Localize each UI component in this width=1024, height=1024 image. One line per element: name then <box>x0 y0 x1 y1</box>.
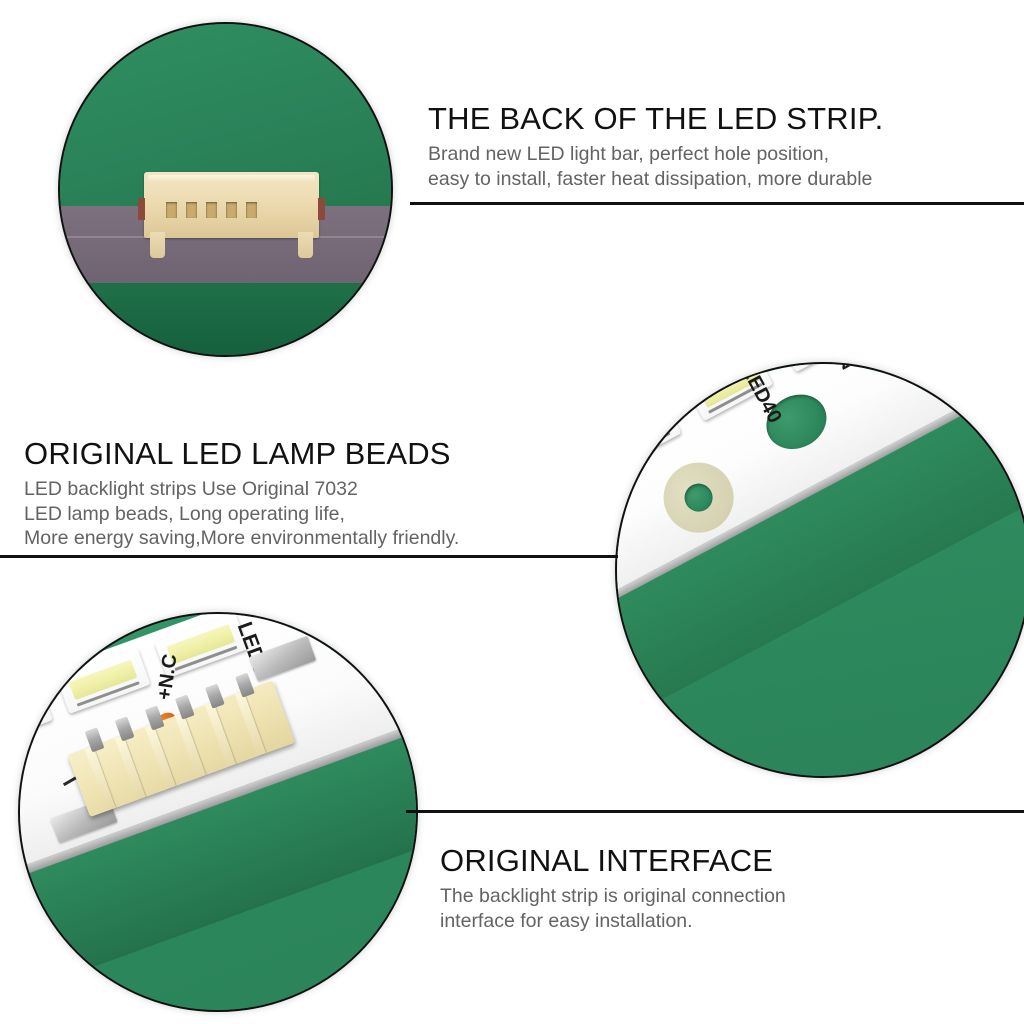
connector-pin-slots <box>166 202 257 218</box>
infographic-canvas: THE BACK OF THE LED STRIP. Brand new LED… <box>0 0 1024 1024</box>
section-2-heading: ORIGINAL LED LAMP BEADS <box>24 438 459 471</box>
led-lamp-beads-photo: LED40 2 7032NNB 44 2D REV1.0 120317 <box>615 362 1024 778</box>
section-1-body-line-2: easy to install, faster heat dissipation… <box>428 167 883 192</box>
connector-leg-left <box>150 232 165 258</box>
section-3-body: The backlight strip is original connecti… <box>440 884 786 934</box>
led-strip-back-connector-photo <box>58 22 393 357</box>
section-3-heading: ORIGINAL INTERFACE <box>440 845 786 878</box>
connector-solder-pad-left <box>138 198 145 220</box>
divider-line-2 <box>0 555 618 558</box>
divider-line-3 <box>406 810 1024 813</box>
original-interface-connector-photo: LED5 +N.C + <box>18 612 418 1012</box>
section-3-body-line-1: The backlight strip is original connecti… <box>440 884 786 909</box>
connector-leg-right <box>298 232 313 258</box>
five-pin-connector <box>144 172 319 238</box>
section-2-body-line-3: More energy saving,More environmentally … <box>24 526 459 551</box>
section-original-interface: ORIGINAL INTERFACE The backlight strip i… <box>440 845 786 933</box>
section-2-body: LED backlight strips Use Original 7032 L… <box>24 477 459 552</box>
section-2-body-line-1: LED backlight strips Use Original 7032 <box>24 477 459 502</box>
section-1-body-line-1: Brand new LED light bar, perfect hole po… <box>428 142 883 167</box>
divider-line-1 <box>410 202 1024 205</box>
section-1-heading: THE BACK OF THE LED STRIP. <box>428 103 883 136</box>
section-1-body: Brand new LED light bar, perfect hole po… <box>428 142 883 192</box>
pcb-green-bottom <box>58 283 393 357</box>
section-3-body-line-2: interface for easy installation. <box>440 909 786 934</box>
section-back-of-led-strip: THE BACK OF THE LED STRIP. Brand new LED… <box>428 103 883 191</box>
section-2-body-line-2: LED lamp beads, Long operating life, <box>24 502 459 527</box>
section-original-led-lamp-beads: ORIGINAL LED LAMP BEADS LED backlight st… <box>24 438 459 551</box>
connector-solder-pad-right <box>318 198 325 220</box>
